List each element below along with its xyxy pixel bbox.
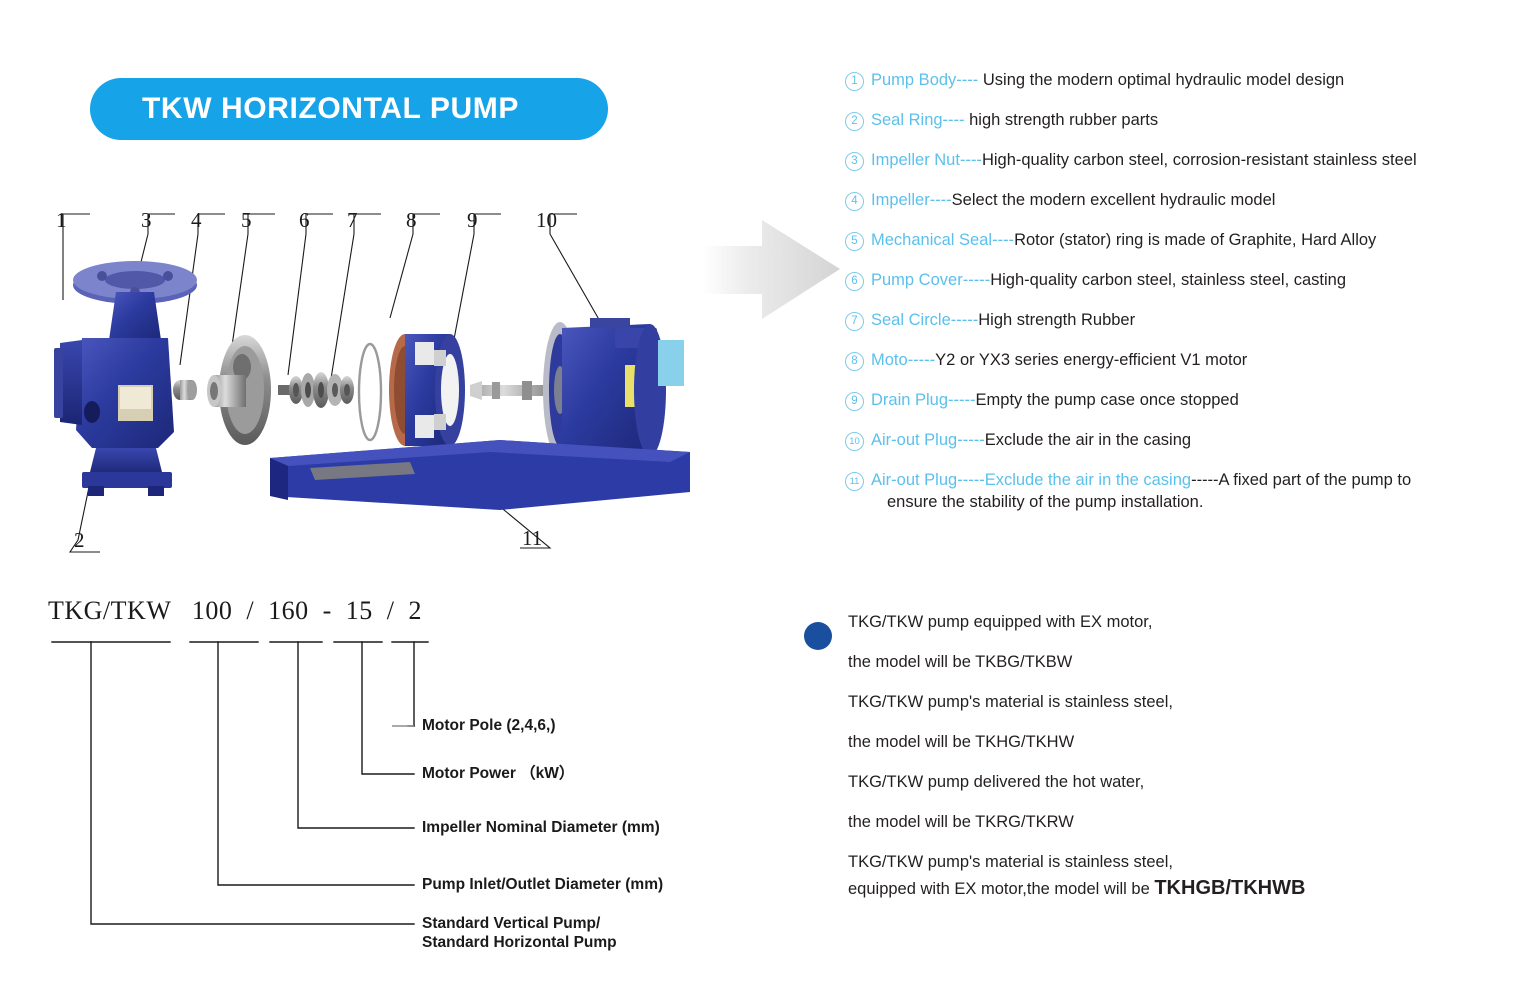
legend-item-7: 7 Seal Circle-----High strength Rubber <box>845 310 1505 350</box>
legend-number-4: 4 <box>845 192 864 211</box>
callout-number-4: 4 <box>191 210 202 231</box>
callout-number-5: 5 <box>241 210 252 231</box>
legend-item-11: 11 Air-out Plug-----Exclude the air in t… <box>845 470 1505 522</box>
legend-sep-7: ----- <box>951 311 978 329</box>
flow-arrow <box>700 212 845 327</box>
pump-illustration <box>30 200 710 580</box>
legend-number-10: 10 <box>845 432 864 451</box>
legend-desc-11-line2: ensure the stability of the pump install… <box>871 492 1411 512</box>
model-label-inlet-outlet: Pump Inlet/Outlet Diameter (mm) <box>422 875 663 894</box>
callout-number-1: 1 <box>56 210 67 231</box>
variant-line-7: TKG/TKW pump's material is stainless ste… <box>848 852 1500 878</box>
base-plate-part <box>270 440 690 510</box>
page-title: TKW HORIZONTAL PUMP <box>90 92 519 126</box>
seal-circle-part <box>359 344 381 440</box>
legend-desc-7: High strength Rubber <box>978 311 1135 329</box>
legend-desc-10: Exclude the air in the casing <box>985 431 1191 449</box>
legend-item-2: 2 Seal Ring---- high strength rubber par… <box>845 110 1505 150</box>
legend-sep-1: ---- <box>956 71 983 89</box>
legend-item-5: 5 Mechanical Seal----Rotor (stator) ring… <box>845 230 1505 270</box>
title-banner: TKW HORIZONTAL PUMP <box>90 78 608 140</box>
variant-line-6: the model will be TKRG/TKRW <box>848 812 1500 852</box>
bullet-dot-icon <box>804 622 832 650</box>
legend-label-11: Air-out Plug <box>871 471 957 489</box>
callout-number-6: 6 <box>299 210 310 231</box>
legend-item-8: 8 Moto-----Y2 or YX3 series energy-effic… <box>845 350 1505 390</box>
legend-desc-1: Using the modern optimal hydraulic model… <box>983 71 1344 89</box>
model-label-pump-standard: Standard Vertical Pump/ Standard Horizon… <box>422 914 617 952</box>
model-label-motor-power: Motor Power （kW） <box>422 764 574 783</box>
legend-sep-8: ----- <box>908 351 935 369</box>
impeller-nut-part <box>173 380 197 400</box>
callout-number-9: 9 <box>467 210 478 231</box>
pump-body-part <box>54 261 197 496</box>
callout-number-10: 10 <box>536 210 557 231</box>
legend-sep-6: ----- <box>963 271 990 289</box>
callout-number-8: 8 <box>406 210 417 231</box>
callout-number-3: 3 <box>141 210 152 231</box>
legend-desc-6: High-quality carbon steel, stainless ste… <box>990 271 1346 289</box>
variant-line-8: equipped with EX motor,the model will be… <box>848 878 1500 904</box>
legend-desc-4: Select the modern excellent hydraulic mo… <box>952 191 1276 209</box>
callout-number-2: 2 <box>74 530 85 551</box>
legend-item-4: 4 Impeller----Select the modern excellen… <box>845 190 1505 230</box>
mechanical-seal-part <box>278 372 354 408</box>
pump-cover-part <box>389 334 465 446</box>
legend-label-8: Moto <box>871 351 908 369</box>
legend-number-2: 2 <box>845 112 864 131</box>
legend-number-8: 8 <box>845 352 864 371</box>
legend-label-10: Air-out Plug <box>871 431 957 449</box>
model-code-leader-lines <box>30 596 730 976</box>
legend-label-9: Drain Plug <box>871 391 948 409</box>
variant-line-1: TKG/TKW pump equipped with EX motor, <box>848 612 1500 652</box>
legend-desc-9: Empty the pump case once stopped <box>976 391 1239 409</box>
legend-number-6: 6 <box>845 272 864 291</box>
legend-number-7: 7 <box>845 312 864 331</box>
legend-sep-4: ---- <box>930 191 952 209</box>
page-root: TKW HORIZONTAL PUMP <box>0 0 1513 1000</box>
legend-label-5: Mechanical Seal <box>871 231 992 249</box>
legend-label-3: Impeller Nut <box>871 151 960 169</box>
legend-number-9: 9 <box>845 392 864 411</box>
arrow-right-icon <box>702 220 840 319</box>
legend-sep-5: ---- <box>992 231 1014 249</box>
variant-lines: TKG/TKW pump equipped with EX motor, the… <box>800 612 1500 904</box>
legend-label-6: Pump Cover <box>871 271 963 289</box>
legend-desc-5: Rotor (stator) ring is made of Graphite,… <box>1014 231 1376 249</box>
legend-item-10: 10 Air-out Plug-----Exclude the air in t… <box>845 430 1505 470</box>
variant-line-8-model: TKHGB/TKHWB <box>1154 877 1305 899</box>
legend-item-9: 9 Drain Plug-----Empty the pump case onc… <box>845 390 1505 430</box>
legend-desc-8: Y2 or YX3 series energy-efficient V1 mot… <box>935 351 1247 369</box>
legend-sep-9: ----- <box>948 391 975 409</box>
legend-desc-2: high strength rubber parts <box>969 111 1158 129</box>
variant-line-8-prefix: equipped with EX motor,the model will be <box>848 880 1154 898</box>
callout-number-11: 11 <box>522 528 542 549</box>
variant-line-3: TKG/TKW pump's material is stainless ste… <box>848 692 1500 732</box>
variant-line-2: the model will be TKBG/TKBW <box>848 652 1500 692</box>
model-label-impeller-dia: Impeller Nominal Diameter (mm) <box>422 818 660 837</box>
legend-item-1: 1 Pump Body---- Using the modern optimal… <box>845 70 1505 110</box>
legend-label-1: Pump Body <box>871 71 956 89</box>
legend-number-5: 5 <box>845 232 864 251</box>
model-code-breakdown: TKG/TKW 100 / 160 - 15 / 2 <box>30 596 730 976</box>
legend-desc-11-blue: -----Exclude the air in the casing <box>957 471 1191 489</box>
legend-sep-3: ---- <box>960 151 982 169</box>
impeller-part <box>207 335 271 445</box>
legend-label-4: Impeller <box>871 191 930 209</box>
legend-desc-3: High-quality carbon steel, corrosion-res… <box>982 151 1417 169</box>
model-label-motor-pole: Motor Pole (2,4,6,) <box>422 716 556 735</box>
variant-line-5: TKG/TKW pump delivered the hot water, <box>848 772 1500 812</box>
legend-label-2: Seal Ring <box>871 111 943 129</box>
exploded-pump-diagram: 1 3 4 5 6 7 8 9 10 2 11 <box>30 200 710 580</box>
variant-line-4: the model will be TKHG/TKHW <box>848 732 1500 772</box>
component-legend-list: 1 Pump Body---- Using the modern optimal… <box>845 70 1505 522</box>
legend-item-6: 6 Pump Cover-----High-quality carbon ste… <box>845 270 1505 310</box>
callout-number-7: 7 <box>347 210 358 231</box>
model-variant-notes: TKG/TKW pump equipped with EX motor, the… <box>800 612 1500 904</box>
legend-number-11: 11 <box>845 472 864 491</box>
legend-label-7: Seal Circle <box>871 311 951 329</box>
legend-number-3: 3 <box>845 152 864 171</box>
legend-sep-10: ----- <box>957 431 984 449</box>
legend-sep-2: ---- <box>943 111 970 129</box>
legend-desc-11-black: -----A fixed part of the pump to <box>1191 471 1411 489</box>
legend-number-1: 1 <box>845 72 864 91</box>
legend-item-3: 3 Impeller Nut----High-quality carbon st… <box>845 150 1505 190</box>
